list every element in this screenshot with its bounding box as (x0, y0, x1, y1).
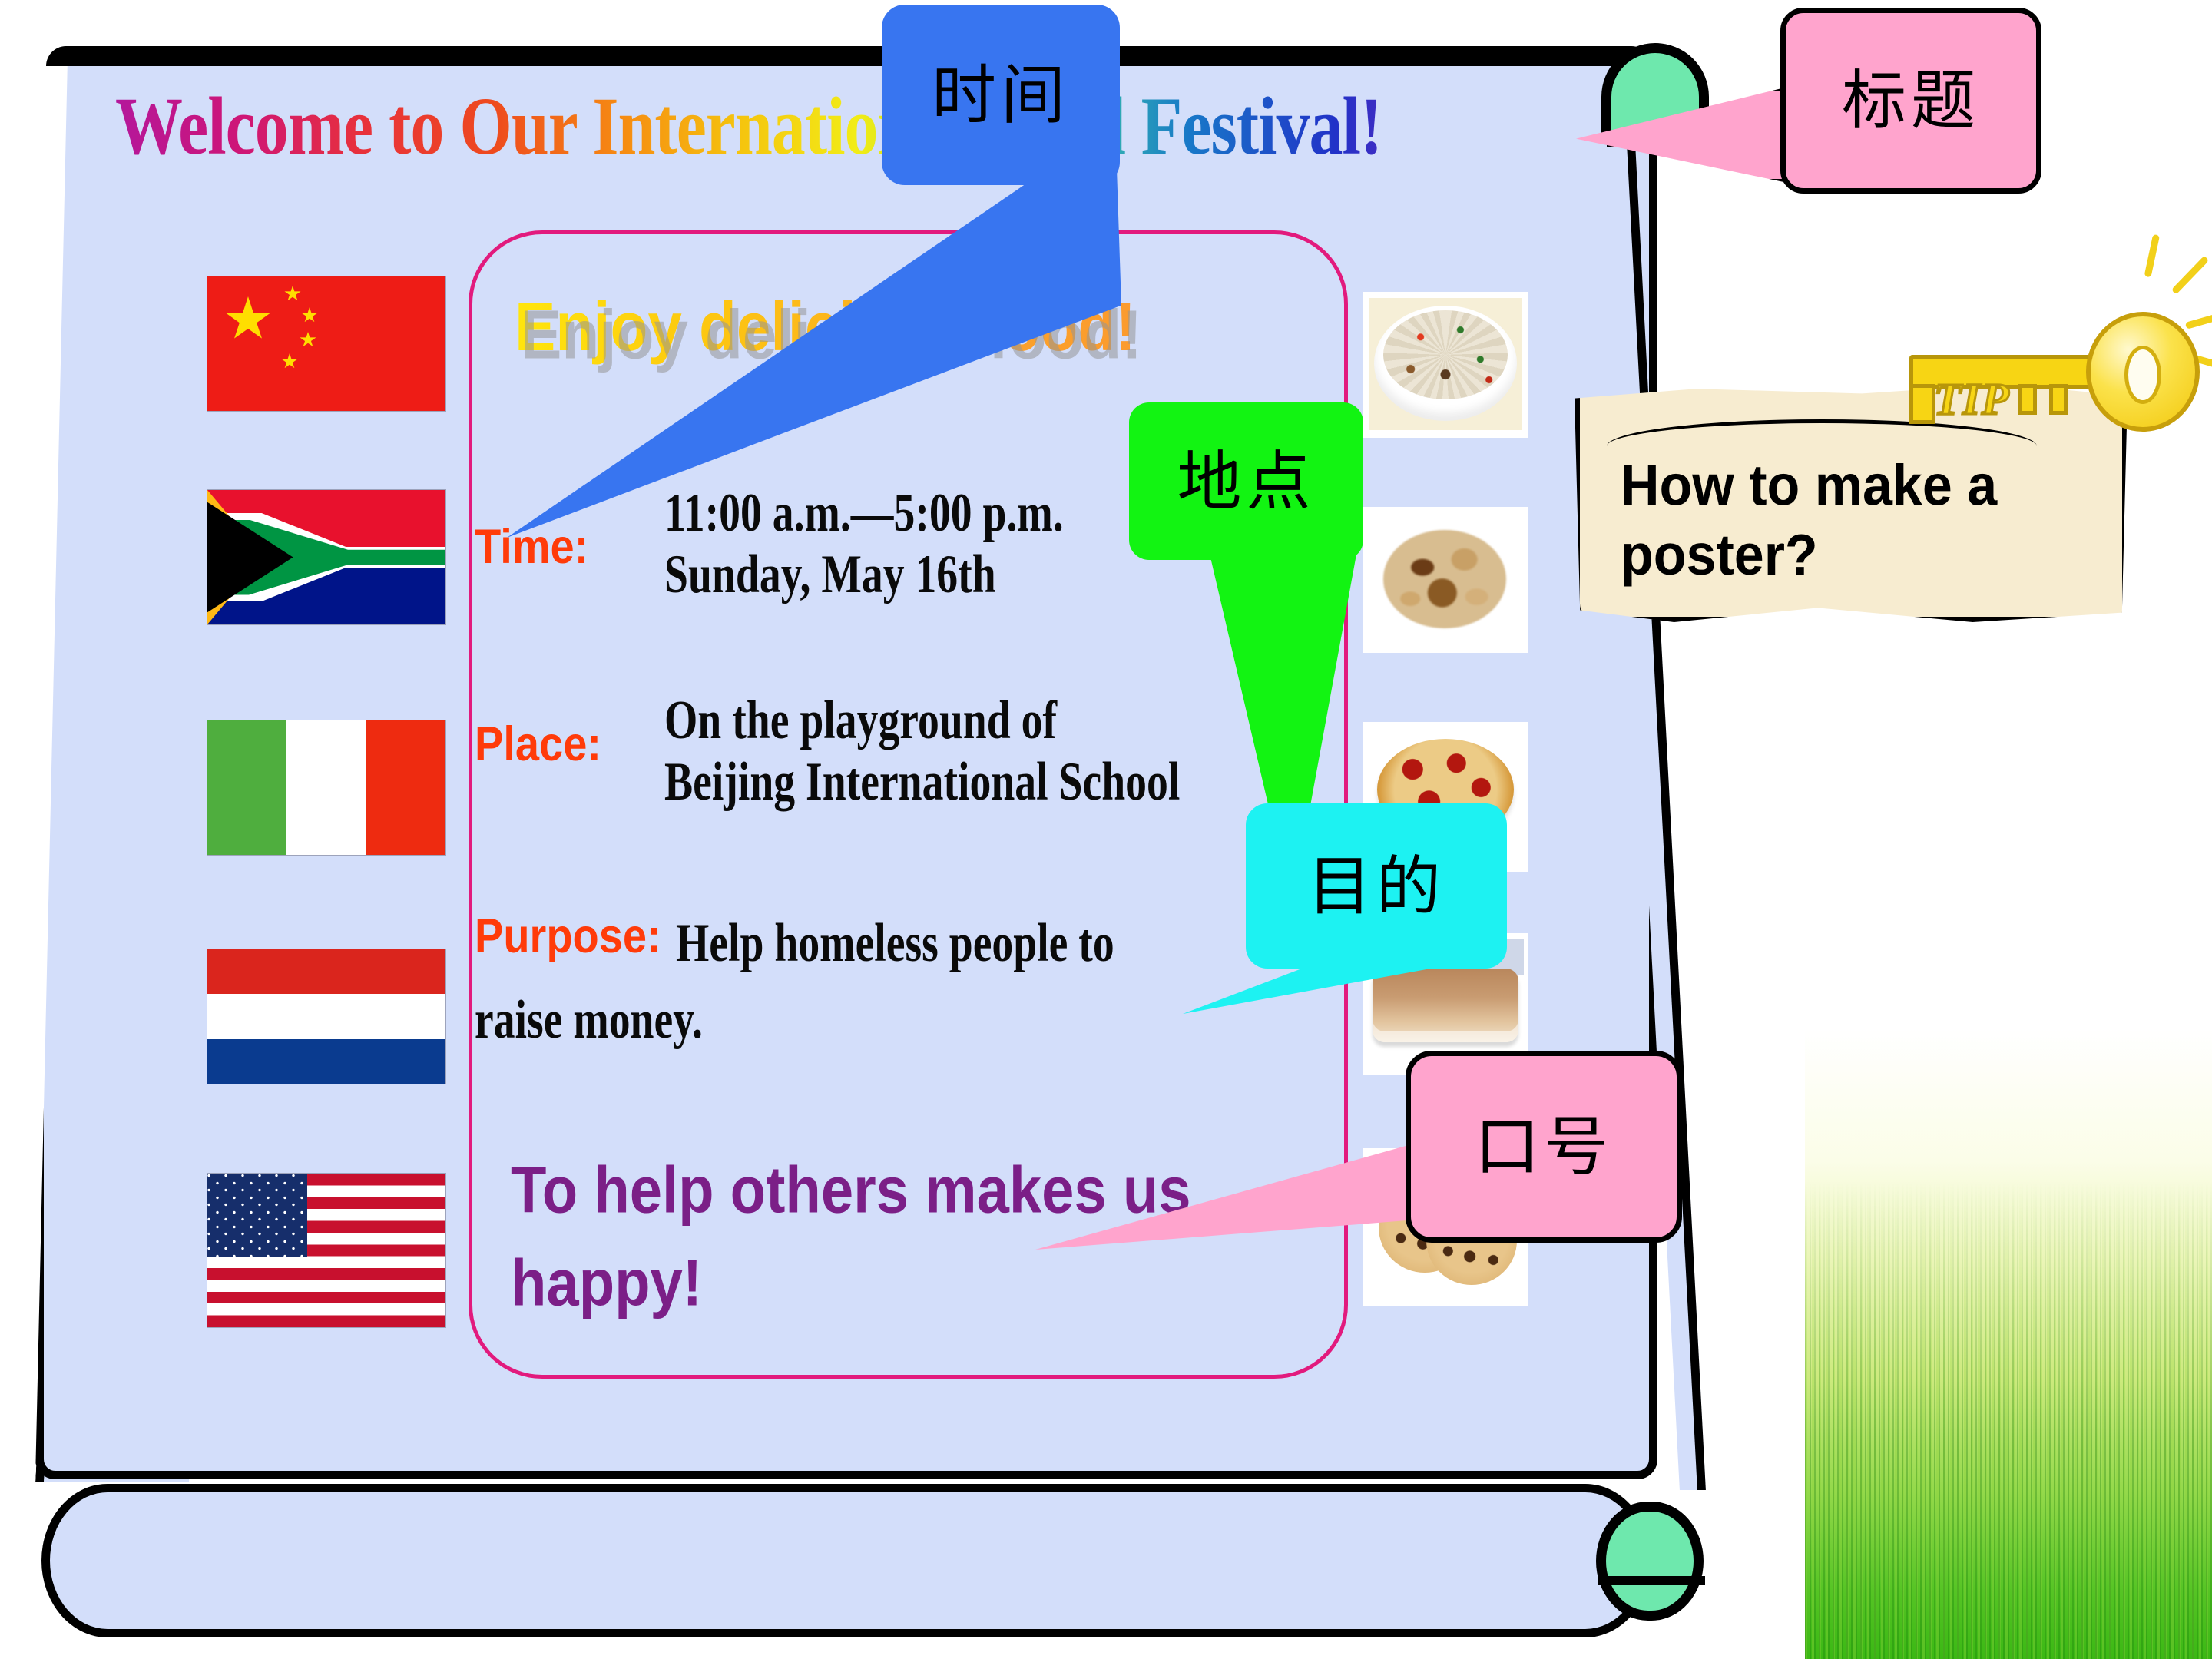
south-africa-flag (207, 490, 445, 624)
time-label: Time: (475, 521, 588, 572)
scroll-bottom-knob-bar (1598, 1576, 1705, 1585)
tip-question: How to make a poster? (1621, 450, 2112, 589)
scroll-top-rod (46, 46, 1651, 66)
callout-time-label: 时间 (882, 5, 1120, 185)
place-value-2: Beijing International School (664, 745, 1180, 818)
stir-fry-photo (1363, 507, 1528, 653)
callout-slogan-label: 口号 (1406, 1051, 1682, 1243)
poster-headline: Welcome to Our International Food Festiv… (115, 77, 1567, 180)
italy-flag (207, 720, 445, 855)
netherlands-flag (207, 949, 445, 1084)
scroll-bottom-rod (41, 1484, 1651, 1637)
key-icon: TIP (1903, 269, 2180, 445)
callout-title-label: 标题 (1780, 8, 2041, 194)
purpose-label: Purpose: (475, 910, 661, 962)
callout-purpose-label: 目的 (1246, 803, 1507, 969)
tip-banner-group: TIP How to make a poster? (1567, 269, 2181, 676)
slide-canvas: Welcome to Our International Food Festiv… (0, 0, 2212, 1659)
united-states-flag (207, 1174, 445, 1327)
purpose-value-1: Help homeless people to (676, 906, 1114, 979)
tip-badge-label: TIP (1934, 373, 2010, 425)
time-value-2: Sunday, May 16th (664, 538, 996, 611)
china-flag (207, 276, 445, 411)
fried-rice-photo (1363, 292, 1528, 438)
purpose-value-2: raise money. (475, 983, 703, 1056)
place-label: Place: (475, 718, 601, 770)
scroll-bottom-knob-icon (1596, 1502, 1704, 1621)
callout-place-label: 地点 (1129, 402, 1363, 560)
